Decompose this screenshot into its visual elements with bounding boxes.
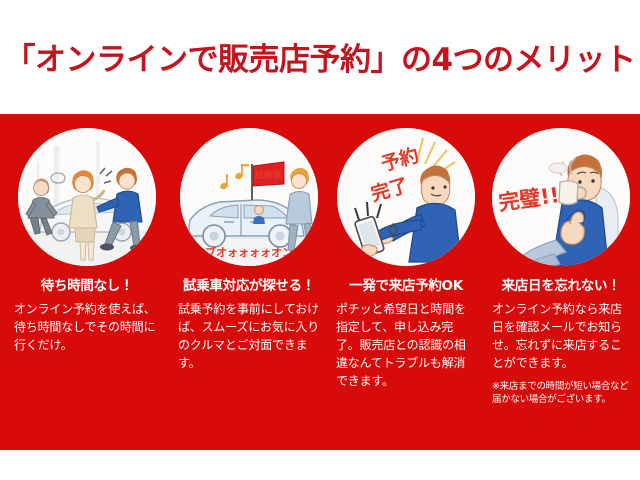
benefit-column-2: 試乗車 [168, 114, 328, 450]
benefit-illustration-3: 予約 完了 [337, 128, 475, 266]
bottom-margin [0, 450, 640, 480]
page-title: 「オンラインで販売店予約」の4つのメリット [4, 45, 635, 76]
benefit-title-3: 一発で来店予約OK [336, 278, 476, 294]
benefit-column-3: 予約 完了 一発で来店予約OK ポチッと希望日と時間を指定して、申し込み完了。販… [328, 114, 484, 450]
flag-label: 試乗車 [254, 169, 281, 181]
showroom-waiting-illustration [18, 128, 156, 266]
promotional-poster: 「オンラインで販売店予約」の4つのメリット [0, 0, 640, 480]
benefit-title-4: 来店日を忘れない！ [492, 278, 630, 294]
test-drive-car-illustration: 試乗車 [180, 128, 318, 266]
benefit-column-4: 完璧!! 来店日を忘れない！ オンライン予約なら来店日を確認メールでお知らせ。忘… [484, 114, 640, 450]
benefit-body-2: 試乗予約を事前にしておけば、スムーズにお気に入りのクルマとご対面できます。 [178, 300, 320, 372]
benefit-body-3: ポチッと希望日と時間を指定して、申し込み完了。販売店との認識の相違なんてトラブル… [336, 300, 476, 390]
benefits-panel: 待ち時間なし！ オンライン予約を使えば、待ち時間なしでその時間に行くだけ。 [0, 114, 640, 450]
smartphone-booking-illustration: 予約 完了 [337, 128, 475, 266]
benefit-illustration-4: 完璧!! [492, 128, 630, 266]
benefit-illustration-2: 試乗車 [180, 128, 318, 266]
benefit-body-4: オンライン予約なら来店日を確認メールでお知らせ。忘れずに来店することができます。 [492, 300, 630, 372]
benefit-title-2: 試乗車対応が探せる！ [178, 278, 320, 294]
benefit-illustration-1 [18, 128, 156, 266]
sound-effect-label: ブオォォォォオン [205, 245, 293, 259]
benefit-title-1: 待ち時間なし！ [14, 278, 160, 294]
benefit-column-1: 待ち時間なし！ オンライン予約を使えば、待ち時間なしでその時間に行くだけ。 [0, 114, 168, 450]
benefit-body-1: オンライン予約を使えば、待ち時間なしでその時間に行くだけ。 [14, 300, 160, 354]
benefit-note-4: ※来店までの時間が短い場合など届かない場合がございます。 [492, 380, 630, 406]
headline-band: 「オンラインで販売店予約」の4つのメリット [0, 0, 640, 114]
relaxed-thumbs-up-illustration: 完璧!! [492, 128, 630, 266]
benefits-columns: 待ち時間なし！ オンライン予約を使えば、待ち時間なしでその時間に行くだけ。 [0, 114, 640, 450]
